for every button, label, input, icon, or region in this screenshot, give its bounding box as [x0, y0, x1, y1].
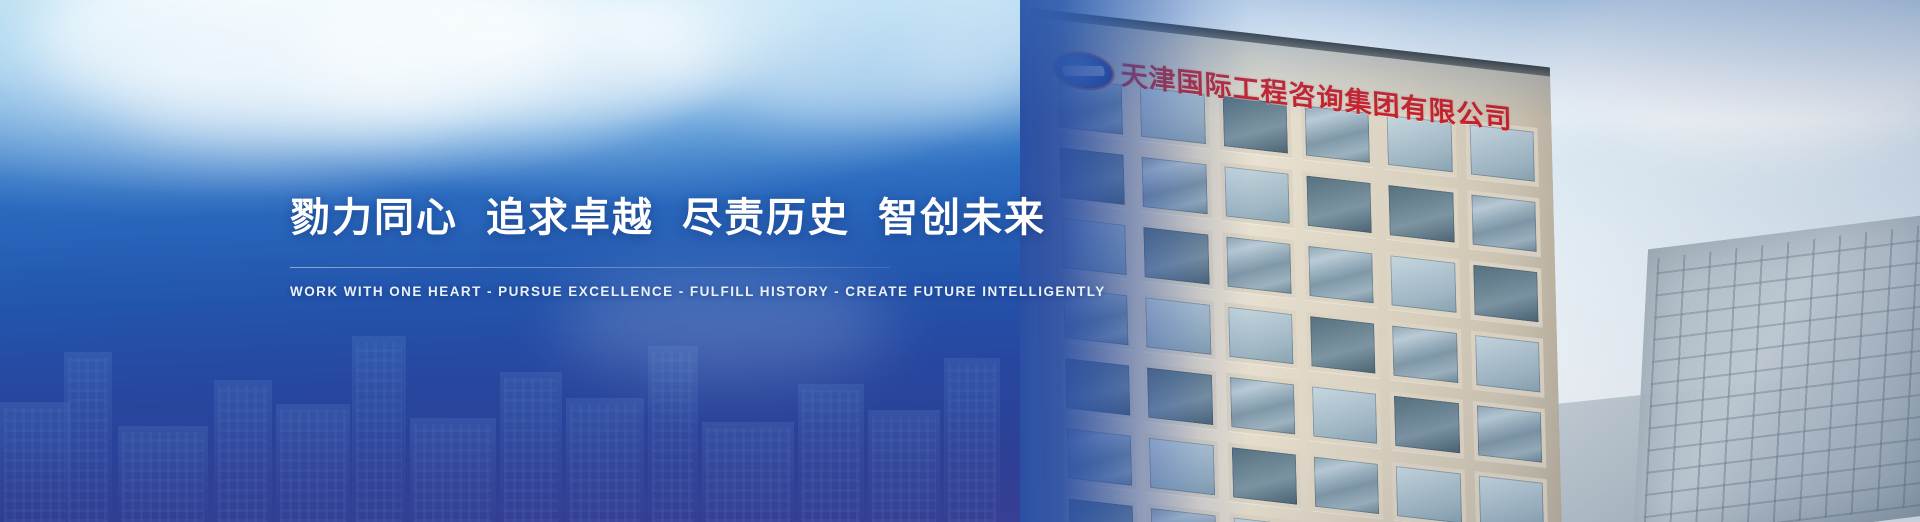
- banner-headline: 勠力同心追求卓越尽责历史智创未来: [290, 193, 1020, 243]
- building-window: [1310, 452, 1384, 518]
- building-window: [1306, 312, 1380, 378]
- banner-subtitle: WORK WITH ONE HEART - PURSUE EXCELLENCE …: [290, 284, 1020, 299]
- hero-banner: 天津国际工程咨询集团有限公司 勠力同心追求卓越尽责历史智创未来 WORK WIT…: [0, 0, 1920, 522]
- building-window: [1472, 401, 1546, 467]
- banner-text-block: 勠力同心追求卓越尽责历史智创未来 WORK WITH ONE HEART - P…: [0, 0, 1020, 522]
- building-window: [1469, 260, 1543, 326]
- building-window: [1308, 382, 1382, 448]
- building-window: [1392, 462, 1466, 522]
- building-window: [1385, 181, 1459, 247]
- building-window: [1304, 241, 1378, 307]
- headline-phrase: 尽责历史: [682, 196, 850, 240]
- building-photo: 天津国际工程咨询集团有限公司: [1020, 0, 1920, 522]
- building-window: [1302, 171, 1376, 237]
- headline-phrase: 智创未来: [878, 196, 1046, 240]
- photo-top-gradient-overlay: [1020, 0, 1920, 120]
- building-window: [1386, 251, 1460, 317]
- building-window: [1474, 471, 1548, 522]
- adjacent-glass-building: [1632, 212, 1920, 522]
- building-window: [1467, 190, 1541, 256]
- headline-divider: [290, 267, 890, 268]
- building-window: [1390, 391, 1464, 457]
- building-window: [1471, 330, 1545, 396]
- headline-phrase: 追求卓越: [486, 196, 654, 240]
- headline-phrase: 勠力同心: [290, 196, 458, 240]
- building-window: [1388, 321, 1462, 387]
